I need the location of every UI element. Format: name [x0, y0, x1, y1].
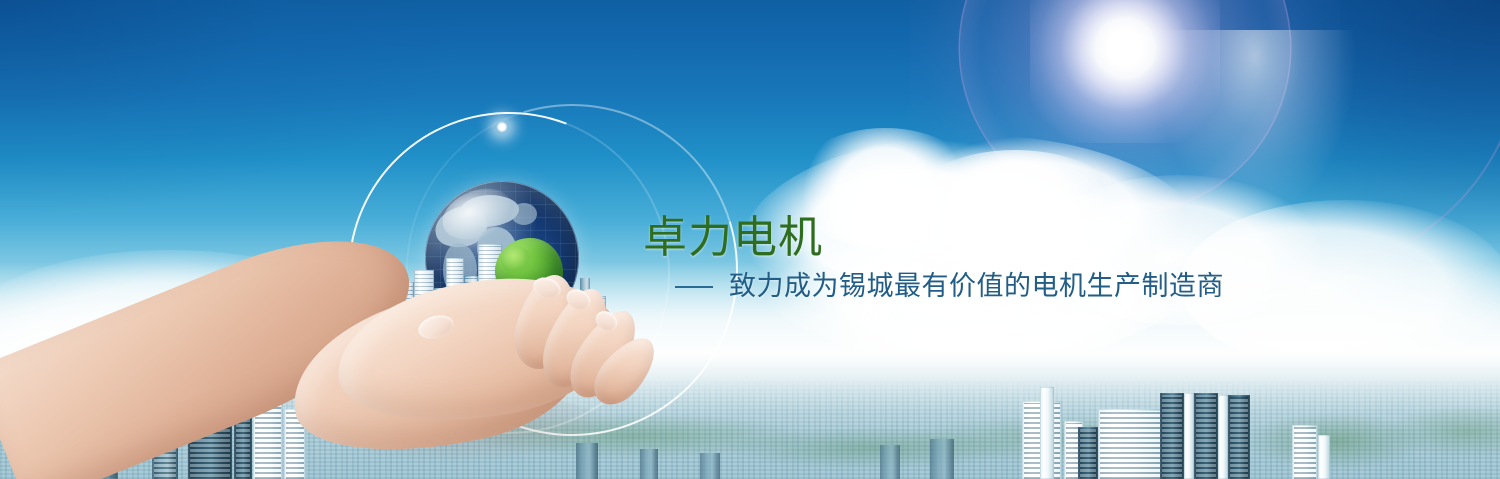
hero-banner: 卓力电机 致力成为锡城最有价值的电机生产制造商 — [0, 0, 1500, 479]
building-floors — [1100, 411, 1160, 479]
building-floors — [1230, 397, 1248, 479]
tagline-row: 致力成为锡城最有价值的电机生产制造商 — [675, 273, 1224, 300]
building-icon — [1160, 393, 1184, 479]
city-greenery-right — [1230, 400, 1500, 479]
building-floors — [1196, 395, 1216, 479]
cloud-puff-icon — [900, 150, 1130, 280]
tagline-dash-icon — [675, 286, 713, 288]
building-icon — [1218, 395, 1228, 479]
building-icon — [1040, 387, 1054, 479]
building-icon — [1194, 393, 1218, 479]
building-icon — [1098, 409, 1162, 479]
building-icon — [1228, 395, 1250, 479]
building-icon — [700, 453, 720, 479]
page-title: 卓力电机 — [643, 216, 823, 260]
building-icon — [1184, 393, 1194, 479]
tree-crown-highlight — [501, 246, 531, 274]
building-floors — [1162, 395, 1182, 479]
building-icon — [880, 445, 900, 479]
sun-icon — [1030, 0, 1220, 143]
building-icon — [930, 439, 954, 479]
cupped-hands — [250, 280, 680, 479]
building-floors — [1080, 429, 1096, 479]
building-floors — [1294, 427, 1316, 479]
building-icon — [1318, 435, 1330, 479]
orbit-spark-dot-icon — [496, 121, 509, 134]
building-icon — [1078, 427, 1098, 479]
tagline: 致力成为锡城最有价值的电机生产制造商 — [729, 273, 1224, 300]
building-icon — [1292, 425, 1318, 479]
